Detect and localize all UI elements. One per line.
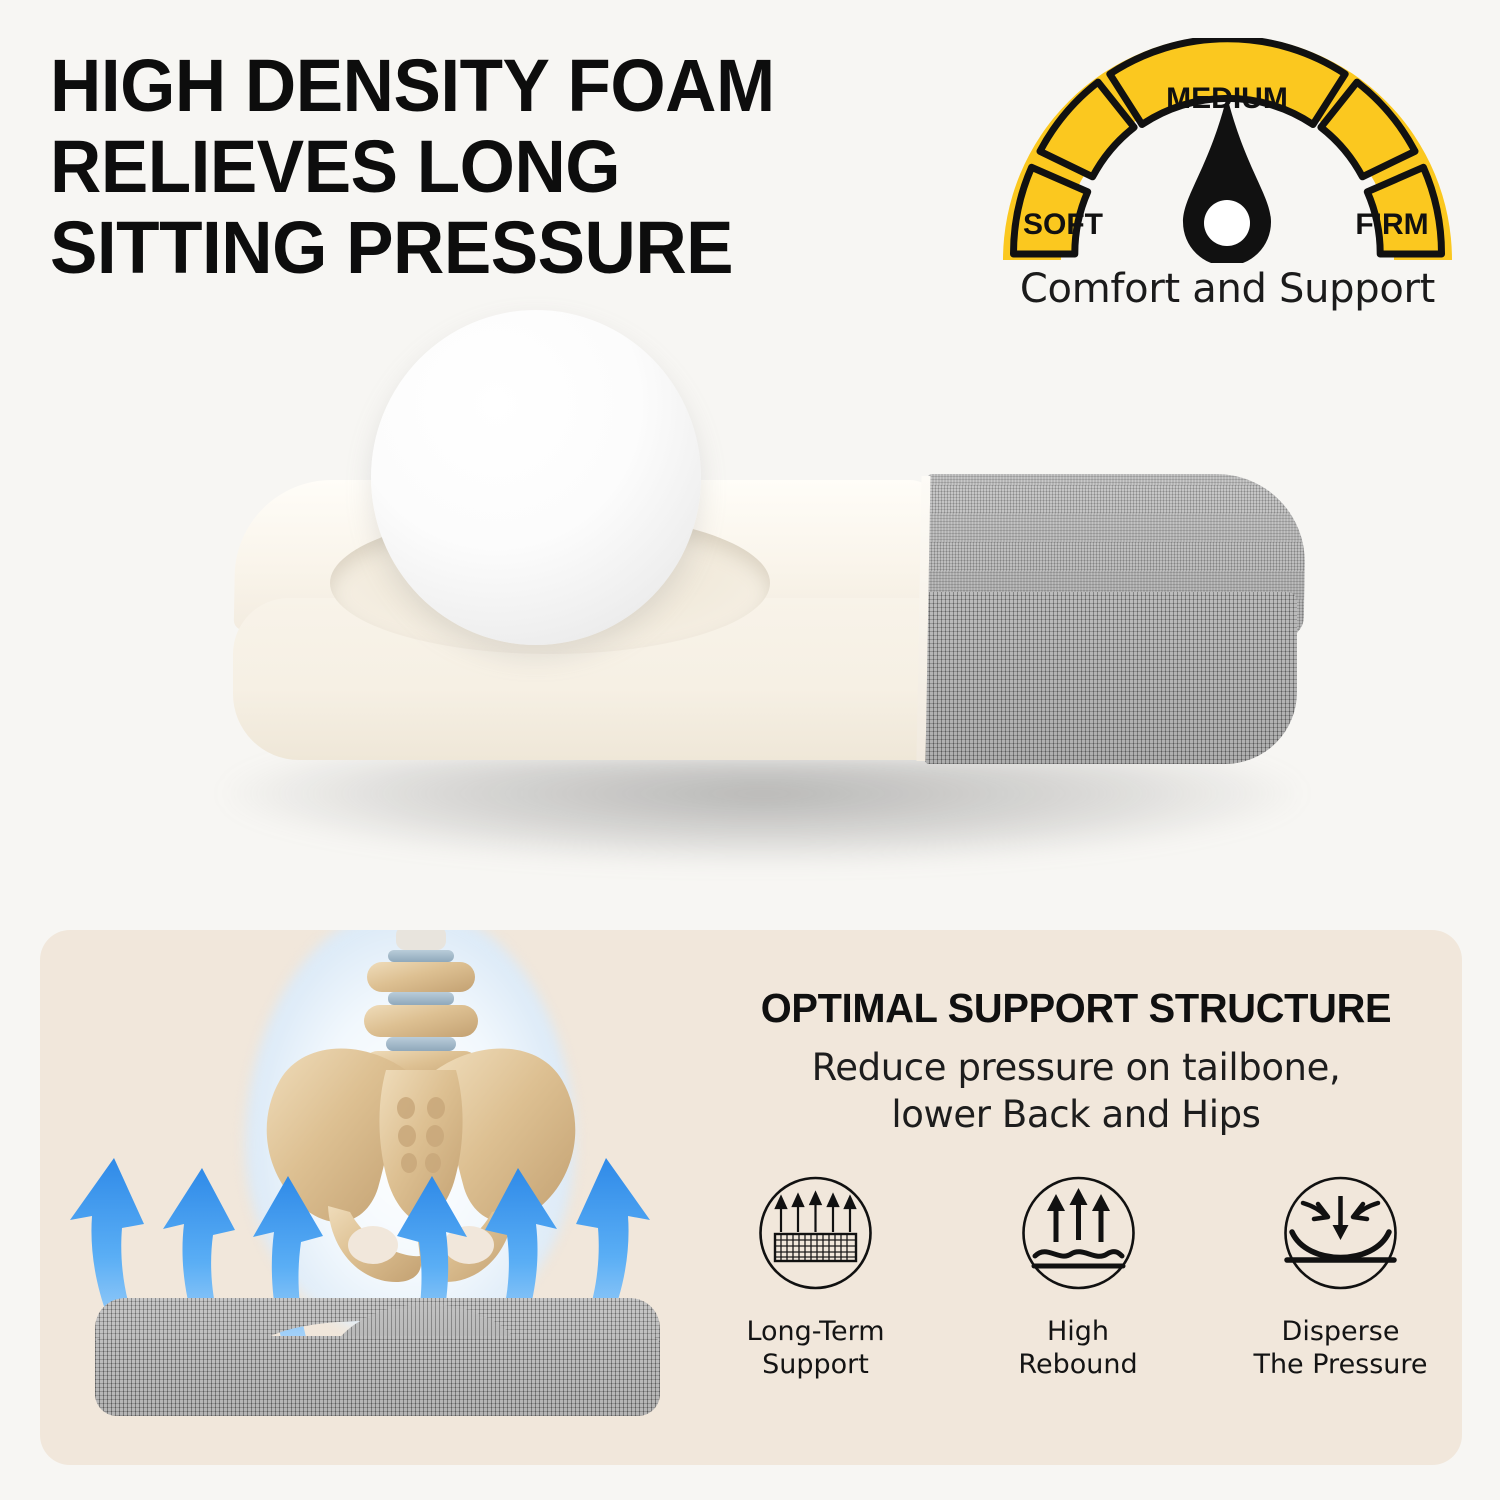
pressure-test-ball — [371, 310, 701, 645]
cushion-body — [95, 1336, 660, 1416]
feature-list: Long-Term Support — [708, 1170, 1448, 1381]
feature-label: Disperse The Pressure — [1253, 1315, 1427, 1381]
feature-label-line-2: Rebound — [1018, 1348, 1137, 1381]
support-structure-panel: OPTIMAL SUPPORT STRUCTURE Reduce pressur… — [40, 930, 1462, 1465]
feature-label: Long-Term Support — [746, 1315, 884, 1381]
panel-description-line-2: lower Back and Hips — [690, 1091, 1462, 1138]
headline-line-2: RELIEVES LONG — [50, 126, 962, 207]
panel-title: OPTIMAL SUPPORT STRUCTURE — [702, 985, 1451, 1032]
panel-description: Reduce pressure on tailbone, lower Back … — [690, 1044, 1462, 1138]
panel-description-line-1: Reduce pressure on tailbone, — [690, 1044, 1462, 1091]
feature-high-rebound: High Rebound — [971, 1170, 1186, 1381]
mesh-support-icon — [748, 1170, 883, 1305]
panel-content: OPTIMAL SUPPORT STRUCTURE Reduce pressur… — [690, 985, 1462, 1445]
disperse-pressure-icon — [1273, 1170, 1408, 1305]
gauge-label-soft: SOFT — [1023, 208, 1103, 241]
headline-line-3: SITTING PRESSURE — [50, 207, 962, 288]
firmness-gauge: SOFT MEDIUM FIRM Comfort and Support — [995, 38, 1460, 328]
page-title: HIGH DENSITY FOAM RELIEVES LONG SITTING … — [50, 45, 962, 288]
feature-long-term-support: Long-Term Support — [708, 1170, 923, 1381]
headline-line-1: HIGH DENSITY FOAM — [50, 45, 962, 126]
feature-label: High Rebound — [1018, 1315, 1137, 1381]
hero-product-image — [0, 300, 1500, 900]
feature-label-line-1: Disperse — [1253, 1315, 1427, 1348]
feature-label-line-1: High — [1018, 1315, 1137, 1348]
gauge-graphic: SOFT MEDIUM FIRM — [995, 38, 1460, 263]
feature-disperse-pressure: Disperse The Pressure — [1233, 1170, 1448, 1381]
infographic-page: HIGH DENSITY FOAM RELIEVES LONG SITTING … — [0, 0, 1500, 1500]
seat-cushion — [225, 480, 1300, 790]
pelvis-illustration — [40, 930, 680, 1430]
fabric-cover-front — [925, 592, 1297, 764]
feature-label-line-2: Support — [746, 1348, 884, 1381]
gauge-label-firm: FIRM — [1355, 208, 1428, 241]
feature-label-line-2: The Pressure — [1253, 1348, 1427, 1381]
feature-label-line-1: Long-Term — [746, 1315, 884, 1348]
rebound-arrows-icon — [1011, 1170, 1146, 1305]
gauge-needle-hub — [1204, 200, 1250, 246]
cushion-cross-section — [95, 1298, 660, 1418]
